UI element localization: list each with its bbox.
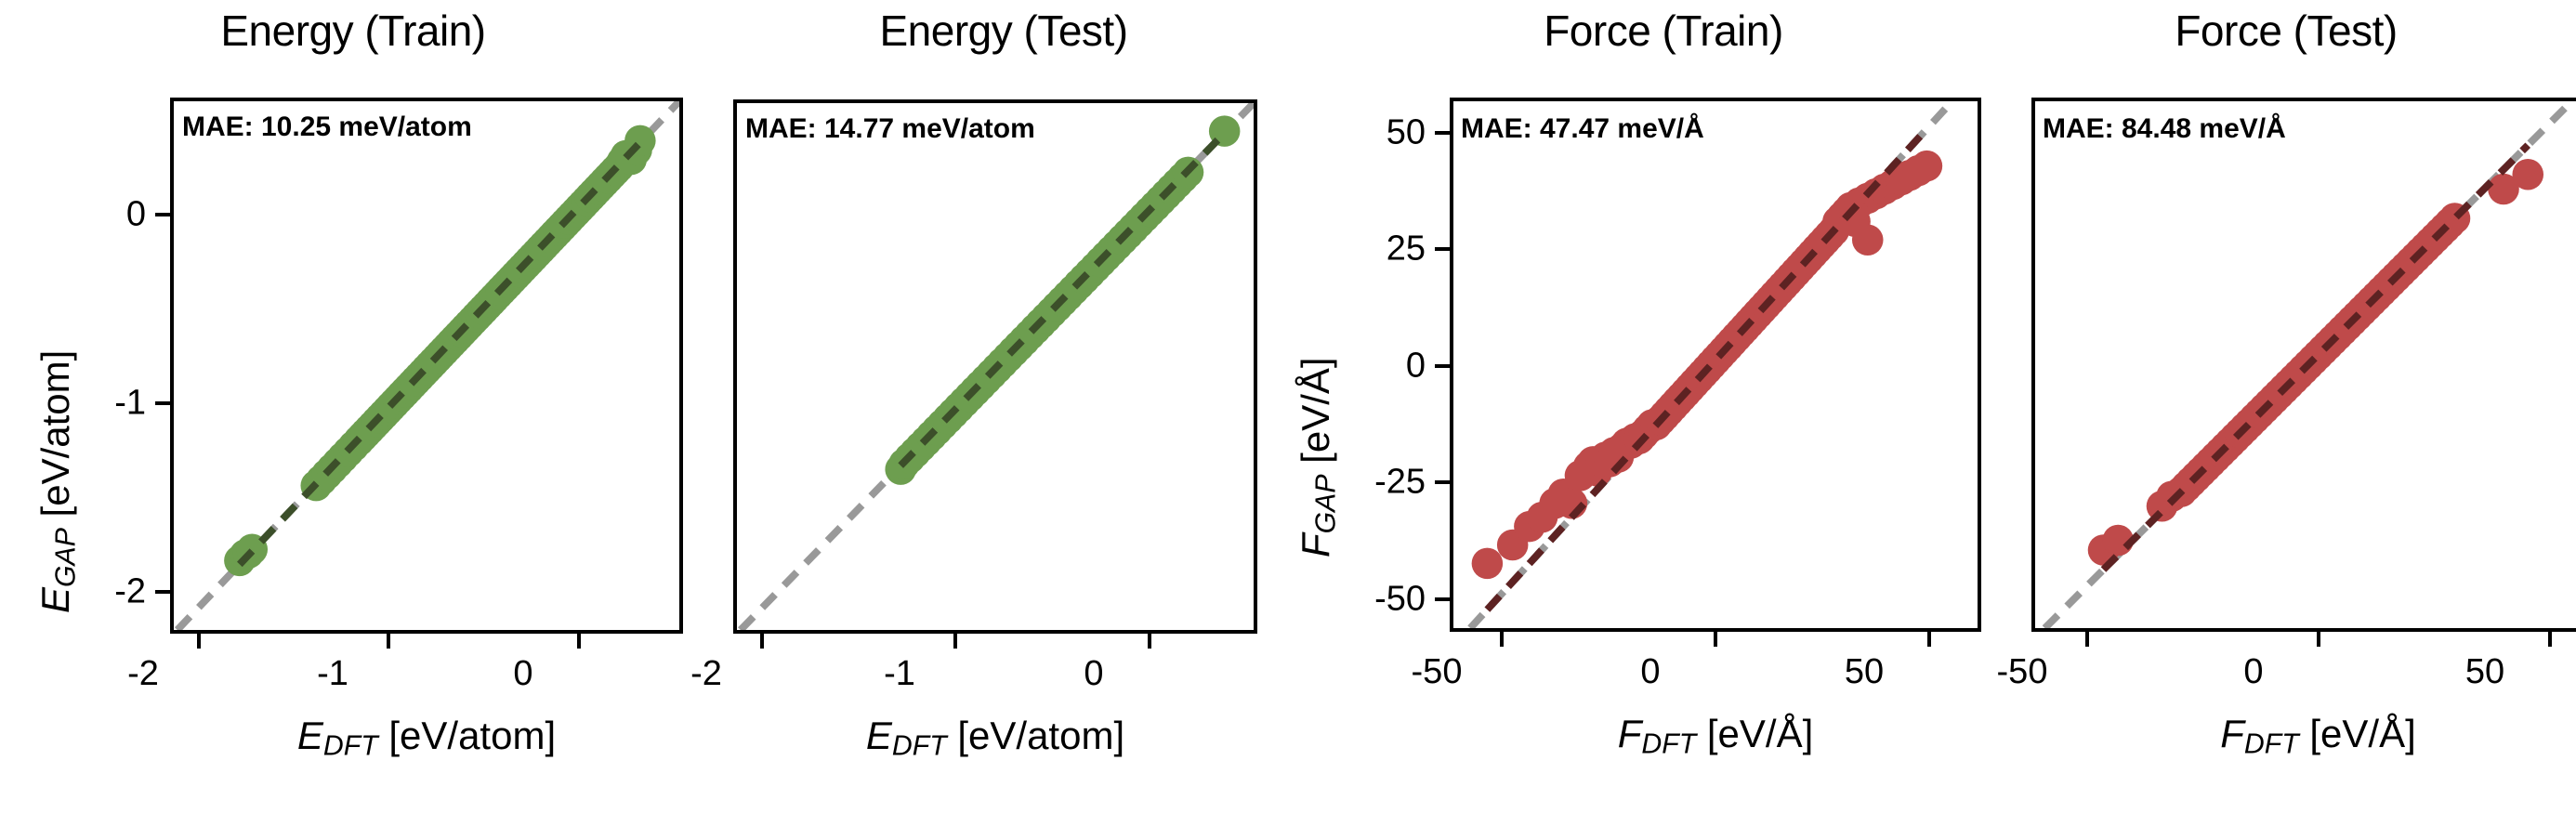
panel-title: Force (Test) bbox=[1933, 6, 2576, 56]
xtick-mark bbox=[2317, 632, 2320, 647]
xtick-label: -1 bbox=[277, 654, 388, 694]
xtick-label: 50 bbox=[2420, 652, 2550, 692]
x-axis-unit: [eV/atom] bbox=[378, 714, 556, 757]
x-axis-var: E bbox=[866, 714, 892, 757]
mae-annotation: MAE: 84.48 meV/Å bbox=[2043, 113, 2286, 145]
mae-annotation: MAE: 47.47 meV/Å bbox=[1461, 113, 1704, 145]
x-axis-var: F bbox=[2220, 712, 2244, 755]
xtick-mark bbox=[2085, 632, 2089, 647]
plot-area bbox=[733, 99, 1257, 634]
y-axis-var: F bbox=[1294, 533, 1337, 557]
mae-annotation: MAE: 14.77 meV/atom bbox=[745, 113, 1035, 145]
x-axis-subscript: DFT bbox=[2244, 729, 2299, 760]
xtick-label: 0 bbox=[1038, 654, 1150, 694]
mae-annotation: MAE: 10.25 meV/atom bbox=[182, 111, 472, 143]
xtick-mark bbox=[953, 634, 957, 649]
xtick-mark bbox=[760, 634, 764, 649]
xtick-label: -50 bbox=[1957, 652, 2087, 692]
x-axis-label: EDFT [eV/atom] bbox=[733, 714, 1257, 763]
xtick-label: 0 bbox=[467, 654, 579, 694]
ytick-label: 25 bbox=[1340, 229, 1426, 269]
xtick-label: 50 bbox=[1799, 652, 1929, 692]
panel-energy-test: Energy (Test) MAE: 14.77 meV/atom -2 -1 … bbox=[706, 0, 1301, 813]
ytick-mark bbox=[1435, 597, 1450, 601]
x-axis-unit: [eV/Å] bbox=[1696, 712, 1813, 755]
y-axis-unit: [eV/atom] bbox=[33, 350, 77, 528]
ytick-label: -1 bbox=[88, 384, 146, 424]
x-axis-unit: [eV/atom] bbox=[947, 714, 1124, 757]
ytick-mark bbox=[1435, 480, 1450, 484]
x-axis-unit: [eV/Å] bbox=[2299, 712, 2416, 755]
xtick-mark bbox=[197, 634, 201, 649]
xtick-mark bbox=[2548, 632, 2552, 647]
y-axis-unit: [eV/Å] bbox=[1294, 357, 1337, 474]
scatter-canvas bbox=[737, 103, 1254, 630]
y-axis-subscript: GAP bbox=[1311, 474, 1342, 533]
xtick-label: 0 bbox=[1585, 652, 1715, 692]
x-axis-var: E bbox=[297, 714, 323, 757]
xtick-mark bbox=[1148, 634, 1151, 649]
x-axis-label: FDFT [eV/Å] bbox=[2031, 712, 2576, 761]
figure-root: Energy (Train) MAE: 10.25 meV/atom 0 -1 … bbox=[0, 0, 2576, 813]
xtick-label: -50 bbox=[1372, 652, 1502, 692]
ytick-label: 50 bbox=[1340, 113, 1426, 153]
x-axis-var: F bbox=[1618, 712, 1642, 755]
x-axis-label: EDFT [eV/atom] bbox=[170, 714, 683, 763]
x-axis-subscript: DFT bbox=[1641, 729, 1696, 760]
ytick-label: 0 bbox=[1340, 347, 1426, 387]
ytick-label: 0 bbox=[88, 195, 146, 235]
xtick-label: 0 bbox=[2188, 652, 2319, 692]
panel-force-test: Force (Test) MAE: 84.48 meV/Å -50 0 50 F… bbox=[1989, 0, 2576, 813]
y-axis-label: EGAP [eV/atom] bbox=[33, 350, 83, 613]
ytick-mark bbox=[155, 213, 170, 216]
ytick-mark bbox=[1435, 364, 1450, 368]
ytick-label: -2 bbox=[88, 572, 146, 612]
ytick-mark bbox=[1435, 131, 1450, 135]
xtick-label: -2 bbox=[651, 654, 762, 694]
xtick-label: -1 bbox=[844, 654, 955, 694]
plot-area bbox=[170, 98, 683, 634]
ytick-mark bbox=[155, 590, 170, 594]
xtick-label: -2 bbox=[87, 654, 199, 694]
xtick-mark bbox=[1714, 632, 1717, 647]
scatter-canvas bbox=[1453, 101, 1978, 628]
scatter-canvas bbox=[174, 101, 679, 630]
x-axis-subscript: DFT bbox=[892, 731, 947, 762]
xtick-mark bbox=[1500, 632, 1504, 647]
xtick-mark bbox=[387, 634, 390, 649]
x-axis-subscript: DFT bbox=[323, 731, 378, 762]
xtick-mark bbox=[1927, 632, 1931, 647]
ytick-label: -25 bbox=[1340, 463, 1426, 503]
x-axis-label: FDFT [eV/Å] bbox=[1450, 712, 1981, 761]
ytick-mark bbox=[155, 401, 170, 405]
scatter-canvas bbox=[2035, 101, 2576, 628]
panel-force-train: Force (Train) MAE: 47.47 meV/Å 50 25 0 -… bbox=[1301, 0, 1989, 813]
panel-energy-train: Energy (Train) MAE: 10.25 meV/atom 0 -1 … bbox=[0, 0, 706, 813]
y-axis-subscript: GAP bbox=[51, 528, 82, 587]
plot-area bbox=[1450, 98, 1981, 632]
plot-area bbox=[2031, 98, 2576, 632]
ytick-label: -50 bbox=[1340, 580, 1426, 620]
ytick-mark bbox=[1435, 247, 1450, 251]
y-axis-var: E bbox=[33, 587, 77, 613]
xtick-mark bbox=[577, 634, 581, 649]
y-axis-label: FGAP [eV/Å] bbox=[1294, 357, 1343, 557]
